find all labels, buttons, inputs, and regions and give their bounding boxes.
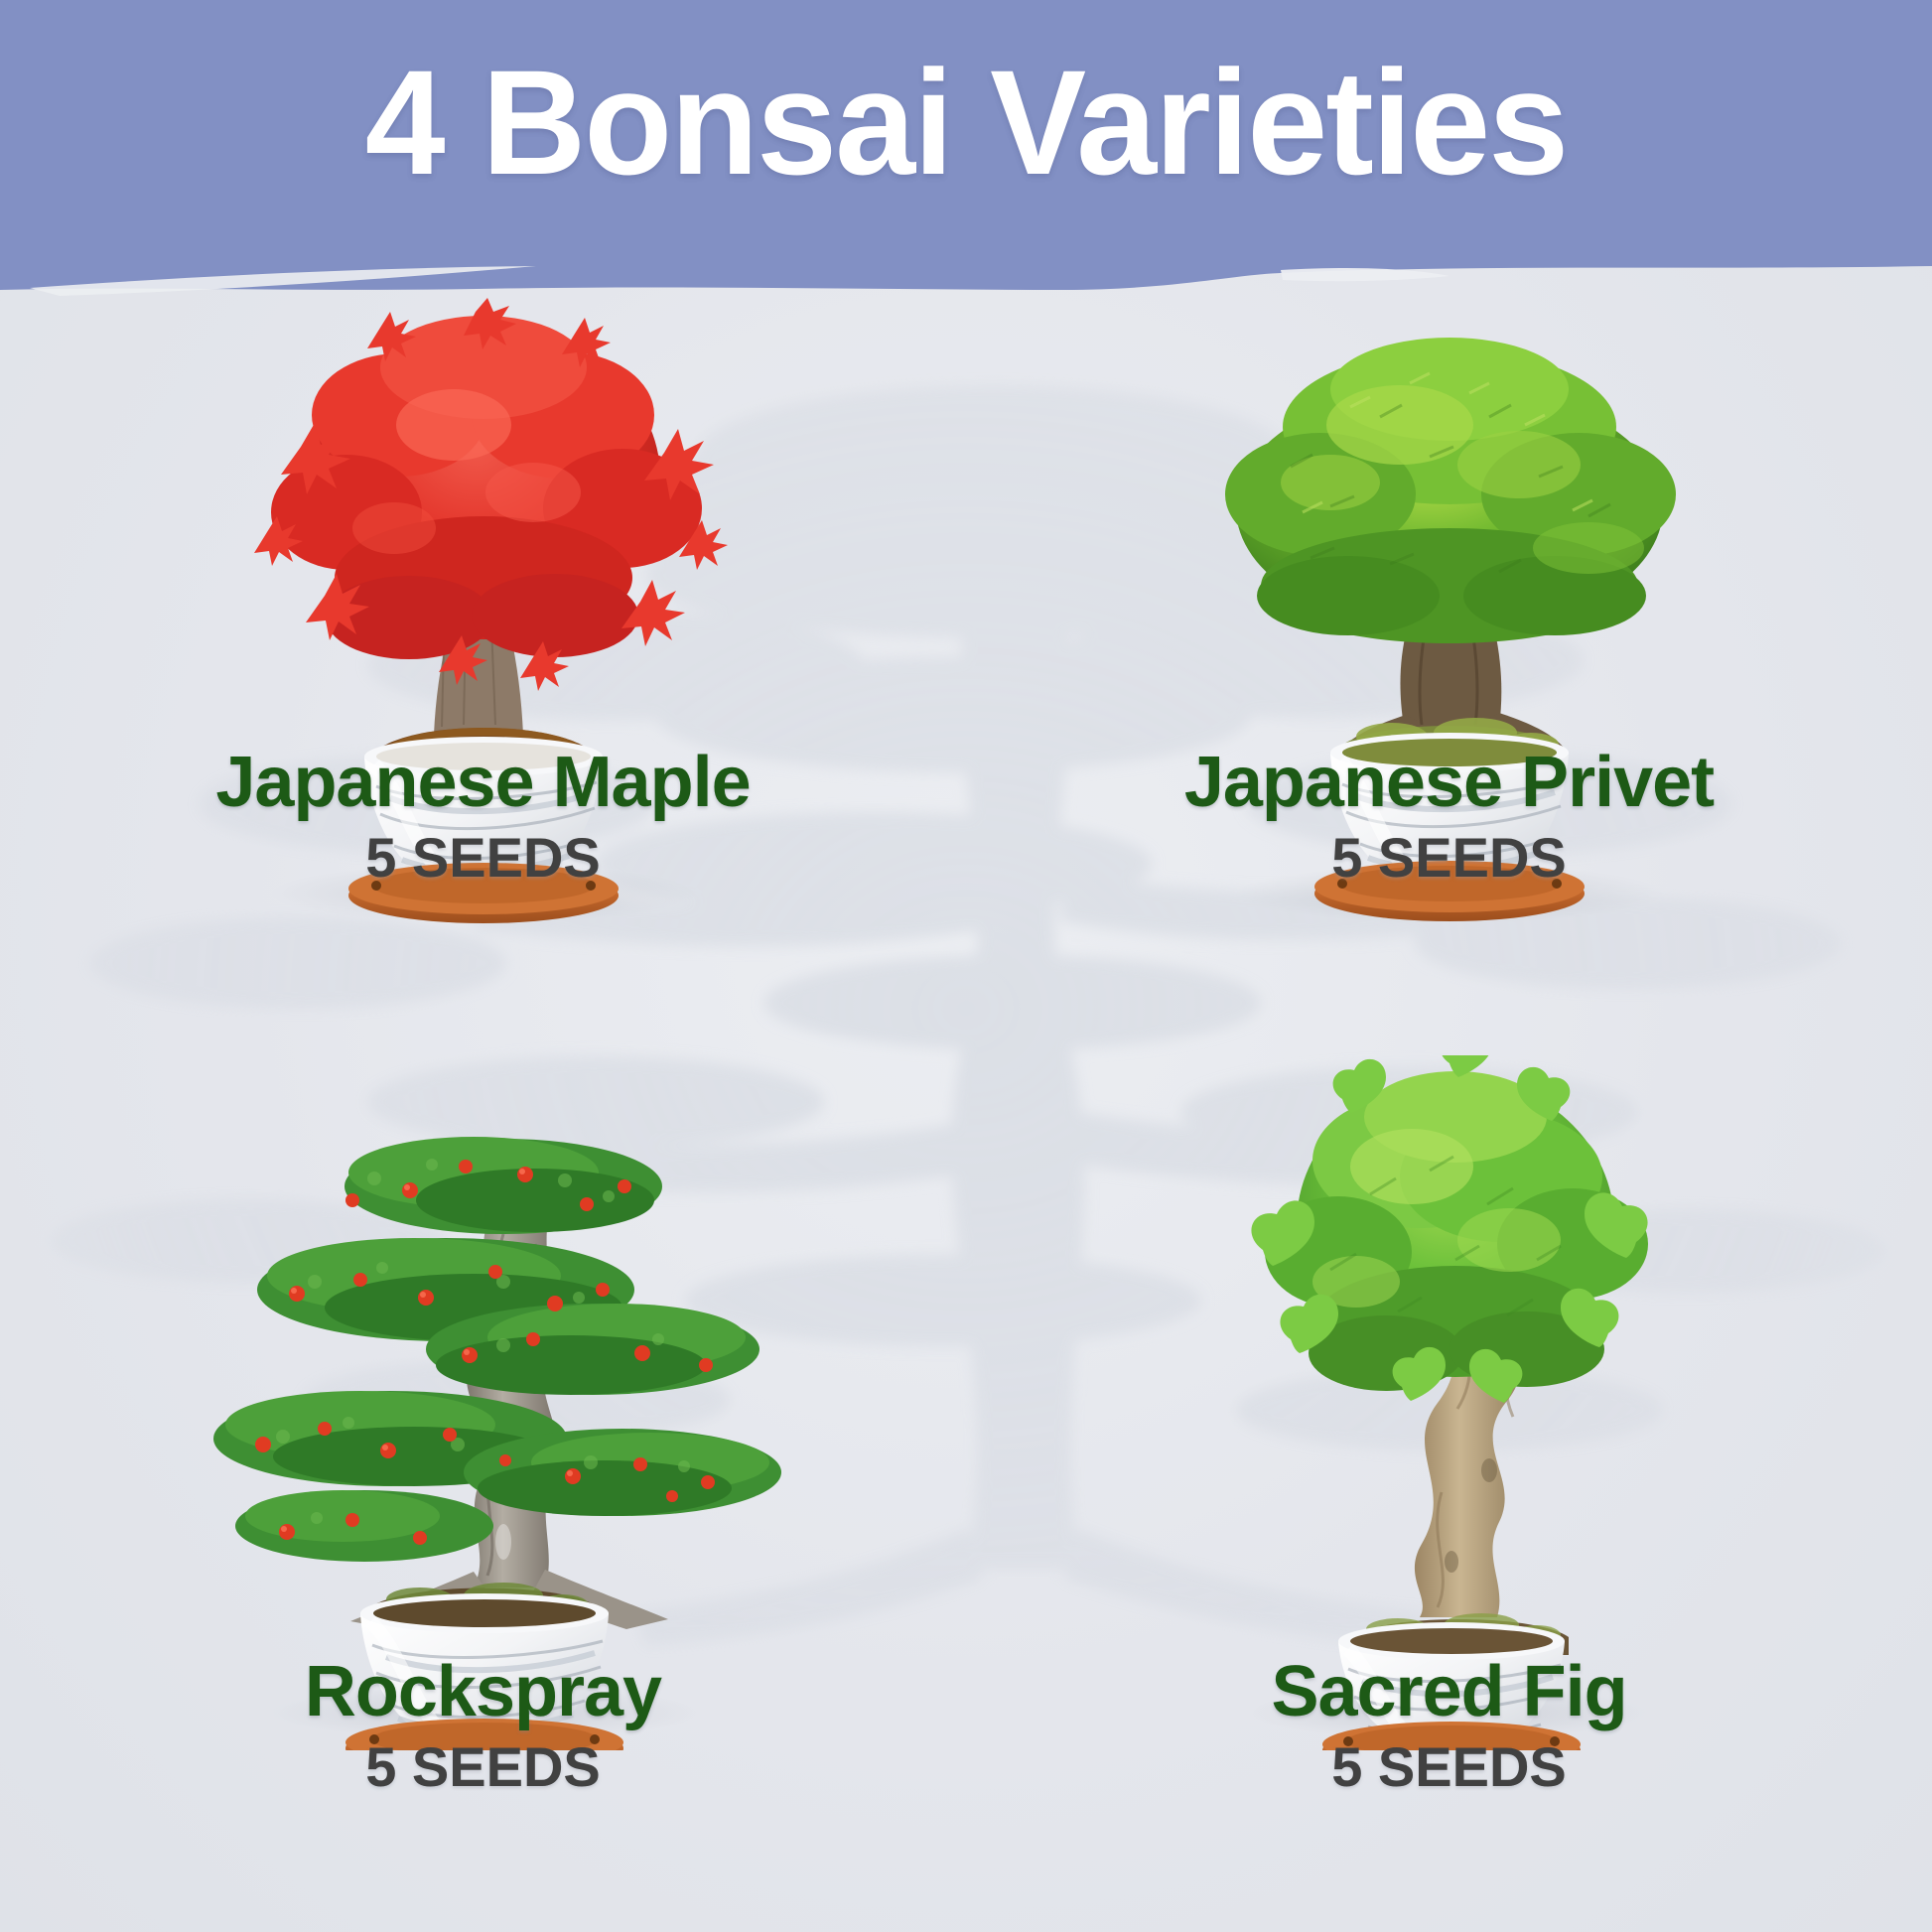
bonsai-varieties-poster: 4 Bonsai Varieties — [0, 0, 1932, 1932]
caption-japanese-privet: Japanese Privet 5 SEEDS — [966, 747, 1932, 886]
variety-card-rockspray[interactable]: Rockspray 5 SEEDS — [0, 1115, 966, 1932]
variety-name: Japanese Privet — [966, 747, 1932, 818]
caption-sacred-fig: Sacred Fig 5 SEEDS — [966, 1656, 1932, 1795]
variety-name: Rockspray — [0, 1656, 966, 1727]
variety-card-japanese-maple[interactable]: Japanese Maple 5 SEEDS — [0, 298, 966, 1115]
caption-japanese-maple: Japanese Maple 5 SEEDS — [0, 747, 966, 886]
poster-header: 4 Bonsai Varieties — [0, 0, 1932, 298]
varieties-grid: Japanese Maple 5 SEEDS — [0, 298, 1932, 1932]
variety-card-sacred-fig[interactable]: Sacred Fig 5 SEEDS — [966, 1115, 1932, 1932]
variety-name: Sacred Fig — [966, 1656, 1932, 1727]
variety-quantity: 5 SEEDS — [966, 830, 1932, 886]
variety-card-japanese-privet[interactable]: Japanese Privet 5 SEEDS — [966, 298, 1932, 1115]
caption-rockspray: Rockspray 5 SEEDS — [0, 1656, 966, 1795]
variety-quantity: 5 SEEDS — [0, 830, 966, 886]
variety-name: Japanese Maple — [0, 747, 966, 818]
variety-quantity: 5 SEEDS — [0, 1739, 966, 1795]
variety-quantity: 5 SEEDS — [966, 1739, 1932, 1795]
page-title: 4 Bonsai Varieties — [29, 48, 1903, 197]
